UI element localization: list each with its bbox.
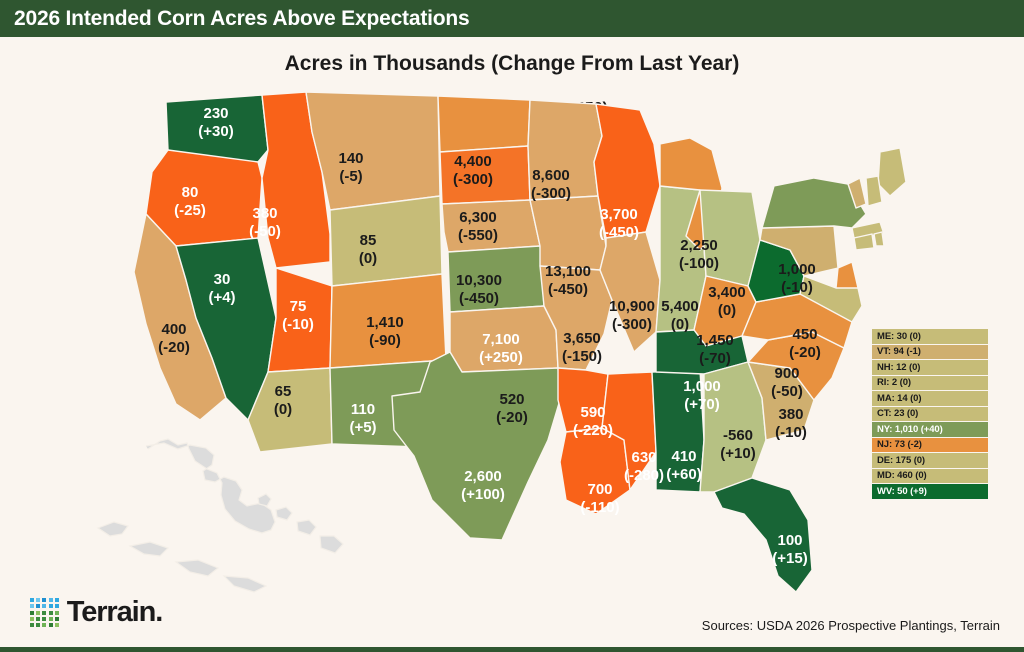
small-states-legend: ME: 30 (0)VT: 94 (-1)NH: 12 (0)RI: 2 (0)… — [872, 329, 988, 499]
legend-row-NY: NY: 1,010 (+40) — [872, 422, 988, 437]
state-shape-OK — [450, 306, 558, 372]
logo-cell — [55, 598, 59, 602]
logo-cell — [36, 598, 40, 602]
no-data-states-layer — [98, 439, 343, 592]
state-shape-IL — [600, 232, 660, 352]
logo-cell — [42, 611, 46, 615]
state-shape-MN — [528, 100, 602, 200]
legend-row-WV: WV: 50 (+9) — [872, 484, 988, 499]
logo-cell — [36, 604, 40, 608]
logo-cell — [30, 598, 34, 602]
state-shape-FL — [714, 478, 812, 592]
state-shape-ME — [878, 148, 906, 196]
legend-row-RI: RI: 2 (0) — [872, 376, 988, 391]
logo-cell — [55, 611, 59, 615]
terrain-logo-mark — [30, 598, 59, 627]
state-shape-SD — [440, 146, 530, 204]
logo-cell — [36, 611, 40, 615]
logo-cell — [30, 604, 34, 608]
logo-cell — [55, 604, 59, 608]
legend-label-CT: CT: 23 (0) — [877, 408, 918, 419]
state-shape-ND — [438, 96, 530, 152]
legend-row-DE: DE: 175 (0) — [872, 453, 988, 468]
state-shape-AK-aleutians — [98, 522, 266, 592]
logo-cell — [49, 617, 53, 621]
state-shape-WY — [330, 196, 442, 286]
logo-cell — [49, 611, 53, 615]
state-shape-CO — [330, 274, 446, 368]
state-shape-LA — [560, 428, 630, 514]
state-shape-WI — [594, 104, 660, 238]
legend-row-MA: MA: 14 (0) — [872, 391, 988, 406]
logo-cell — [42, 617, 46, 621]
terrain-logo: Terrain. — [30, 596, 162, 629]
state-shape-AL — [652, 370, 704, 492]
legend-label-ME: ME: 30 (0) — [877, 331, 921, 342]
legend-label-DE: DE: 175 (0) — [877, 455, 925, 466]
logo-cell — [42, 604, 46, 608]
logo-cell — [49, 598, 53, 602]
logo-cell — [36, 623, 40, 627]
logo-cell — [49, 623, 53, 627]
state-shape-MT — [306, 92, 440, 210]
state-shape-NE — [442, 200, 540, 252]
logo-cell — [30, 623, 34, 627]
logo-cell — [55, 623, 59, 627]
legend-label-MD: MD: 460 (0) — [877, 470, 927, 481]
legend-label-NJ: NJ: 73 (-2) — [877, 439, 922, 450]
legend-row-NJ: NJ: 73 (-2) — [872, 438, 988, 453]
legend-label-RI: RI: 2 (0) — [877, 377, 911, 388]
logo-cell — [30, 611, 34, 615]
legend-row-CT: CT: 23 (0) — [872, 407, 988, 422]
legend-row-VT: VT: 94 (-1) — [872, 345, 988, 360]
state-shape-OH — [700, 190, 760, 286]
state-shape-KS — [448, 246, 544, 312]
state-shape-RI — [874, 232, 884, 246]
logo-cell — [42, 598, 46, 602]
choropleth-map: 230(+30)80(-25)380(-50)140(-5)85(0)30(+4… — [0, 0, 1024, 652]
legend-label-VT: VT: 94 (-1) — [877, 346, 921, 357]
state-shape-IA — [530, 196, 606, 270]
state-shape-AK — [146, 439, 275, 533]
legend-label-NY: NY: 1,010 (+40) — [877, 424, 943, 435]
logo-cell — [55, 617, 59, 621]
logo-cell — [36, 617, 40, 621]
us-map-svg: 230(+30)80(-25)380(-50)140(-5)85(0)30(+4… — [0, 0, 1024, 652]
state-shape-UT — [268, 268, 332, 372]
state-shape-AR — [558, 368, 608, 432]
legend-row-NH: NH: 12 (0) — [872, 360, 988, 375]
sources-note: Sources: USDA 2026 Prospective Plantings… — [702, 618, 1000, 633]
legend-label-MA: MA: 14 (0) — [877, 393, 921, 404]
logo-cell — [49, 604, 53, 608]
legend-row-ME: ME: 30 (0) — [872, 329, 988, 344]
legend-label-NH: NH: 12 (0) — [877, 362, 920, 373]
footer-strip — [0, 647, 1024, 652]
legend-row-MD: MD: 460 (0) — [872, 469, 988, 484]
logo-cell — [30, 617, 34, 621]
legend-label-WV: WV: 50 (+9) — [877, 486, 927, 497]
terrain-logo-text: Terrain. — [67, 596, 162, 629]
infographic-page: 2026 Intended Corn Acres Above Expectati… — [0, 0, 1024, 652]
logo-cell — [42, 623, 46, 627]
